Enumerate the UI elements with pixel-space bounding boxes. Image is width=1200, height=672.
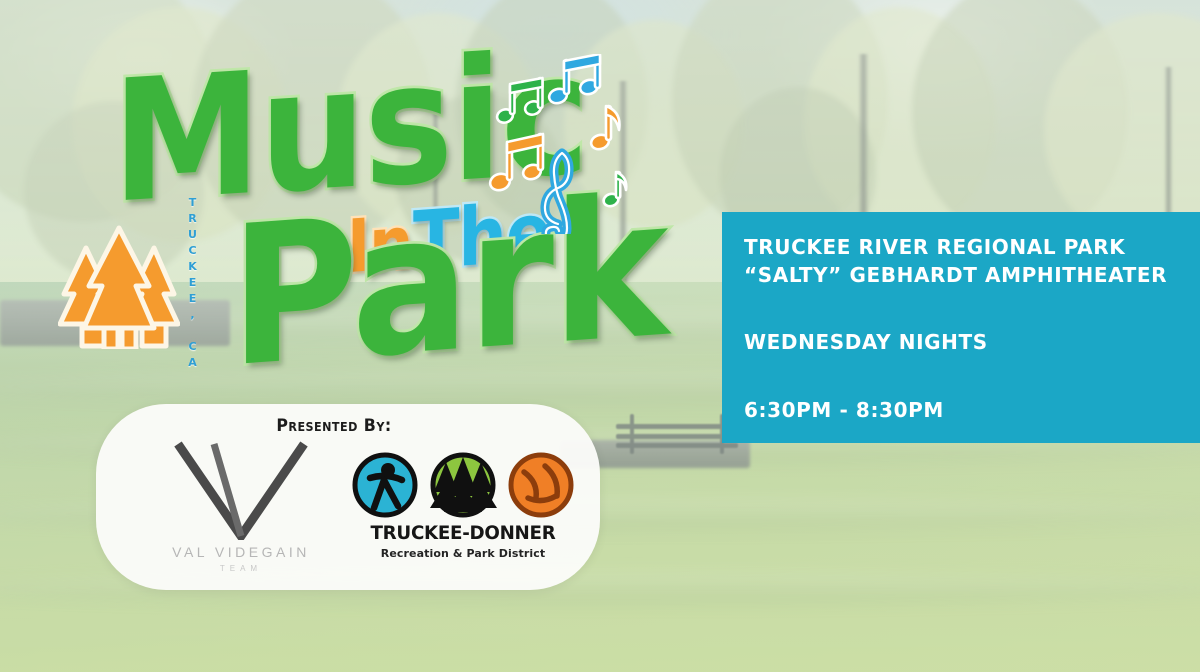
- presented-by-heading: Presented By:: [276, 416, 391, 436]
- truckee-donner-logo: TRUCKEE-DONNER Recreation & Park Distric…: [348, 452, 578, 577]
- info-spacer: [744, 289, 1200, 329]
- venue-amphitheater-line: “SALTY” GEBHARDT AMPHITHEATER: [744, 262, 1200, 290]
- info-spacer: [744, 357, 1200, 397]
- venue-name-line: TRUCKEE RIVER REGIONAL PARK: [744, 234, 1200, 262]
- pine-trees-icon: [58, 224, 180, 349]
- logo-vertical-city-label: TRUCKEE, CA: [186, 196, 199, 372]
- music-notes-decoration: [488, 54, 628, 234]
- val-videgain-name: VAL VIDEGAIN: [136, 544, 346, 560]
- recreation-icon: [355, 455, 415, 515]
- event-time-line: 6:30PM - 8:30PM: [744, 397, 1200, 425]
- val-videgain-logo: VAL VIDEGAIN TEAM: [136, 440, 346, 580]
- val-videgain-subtitle: TEAM: [136, 564, 346, 573]
- truckee-donner-name: TRUCKEE-DONNER: [353, 522, 574, 544]
- presented-by-card: Presented By: VAL VIDEGAIN TEAM: [96, 404, 600, 590]
- sports-icon: [511, 455, 571, 515]
- parks-icon: [430, 455, 497, 515]
- truckee-donner-subtitle: Recreation & Park District: [348, 547, 578, 560]
- v-monogram-icon: [136, 440, 346, 540]
- music-in-the-park-logo: Music In The Park TRUCKEE, CA: [40, 46, 660, 376]
- event-info-panel: TRUCKEE RIVER REGIONAL PARK “SALTY” GEBH…: [722, 212, 1200, 443]
- event-day-line: WEDNESDAY NIGHTS: [744, 329, 1200, 357]
